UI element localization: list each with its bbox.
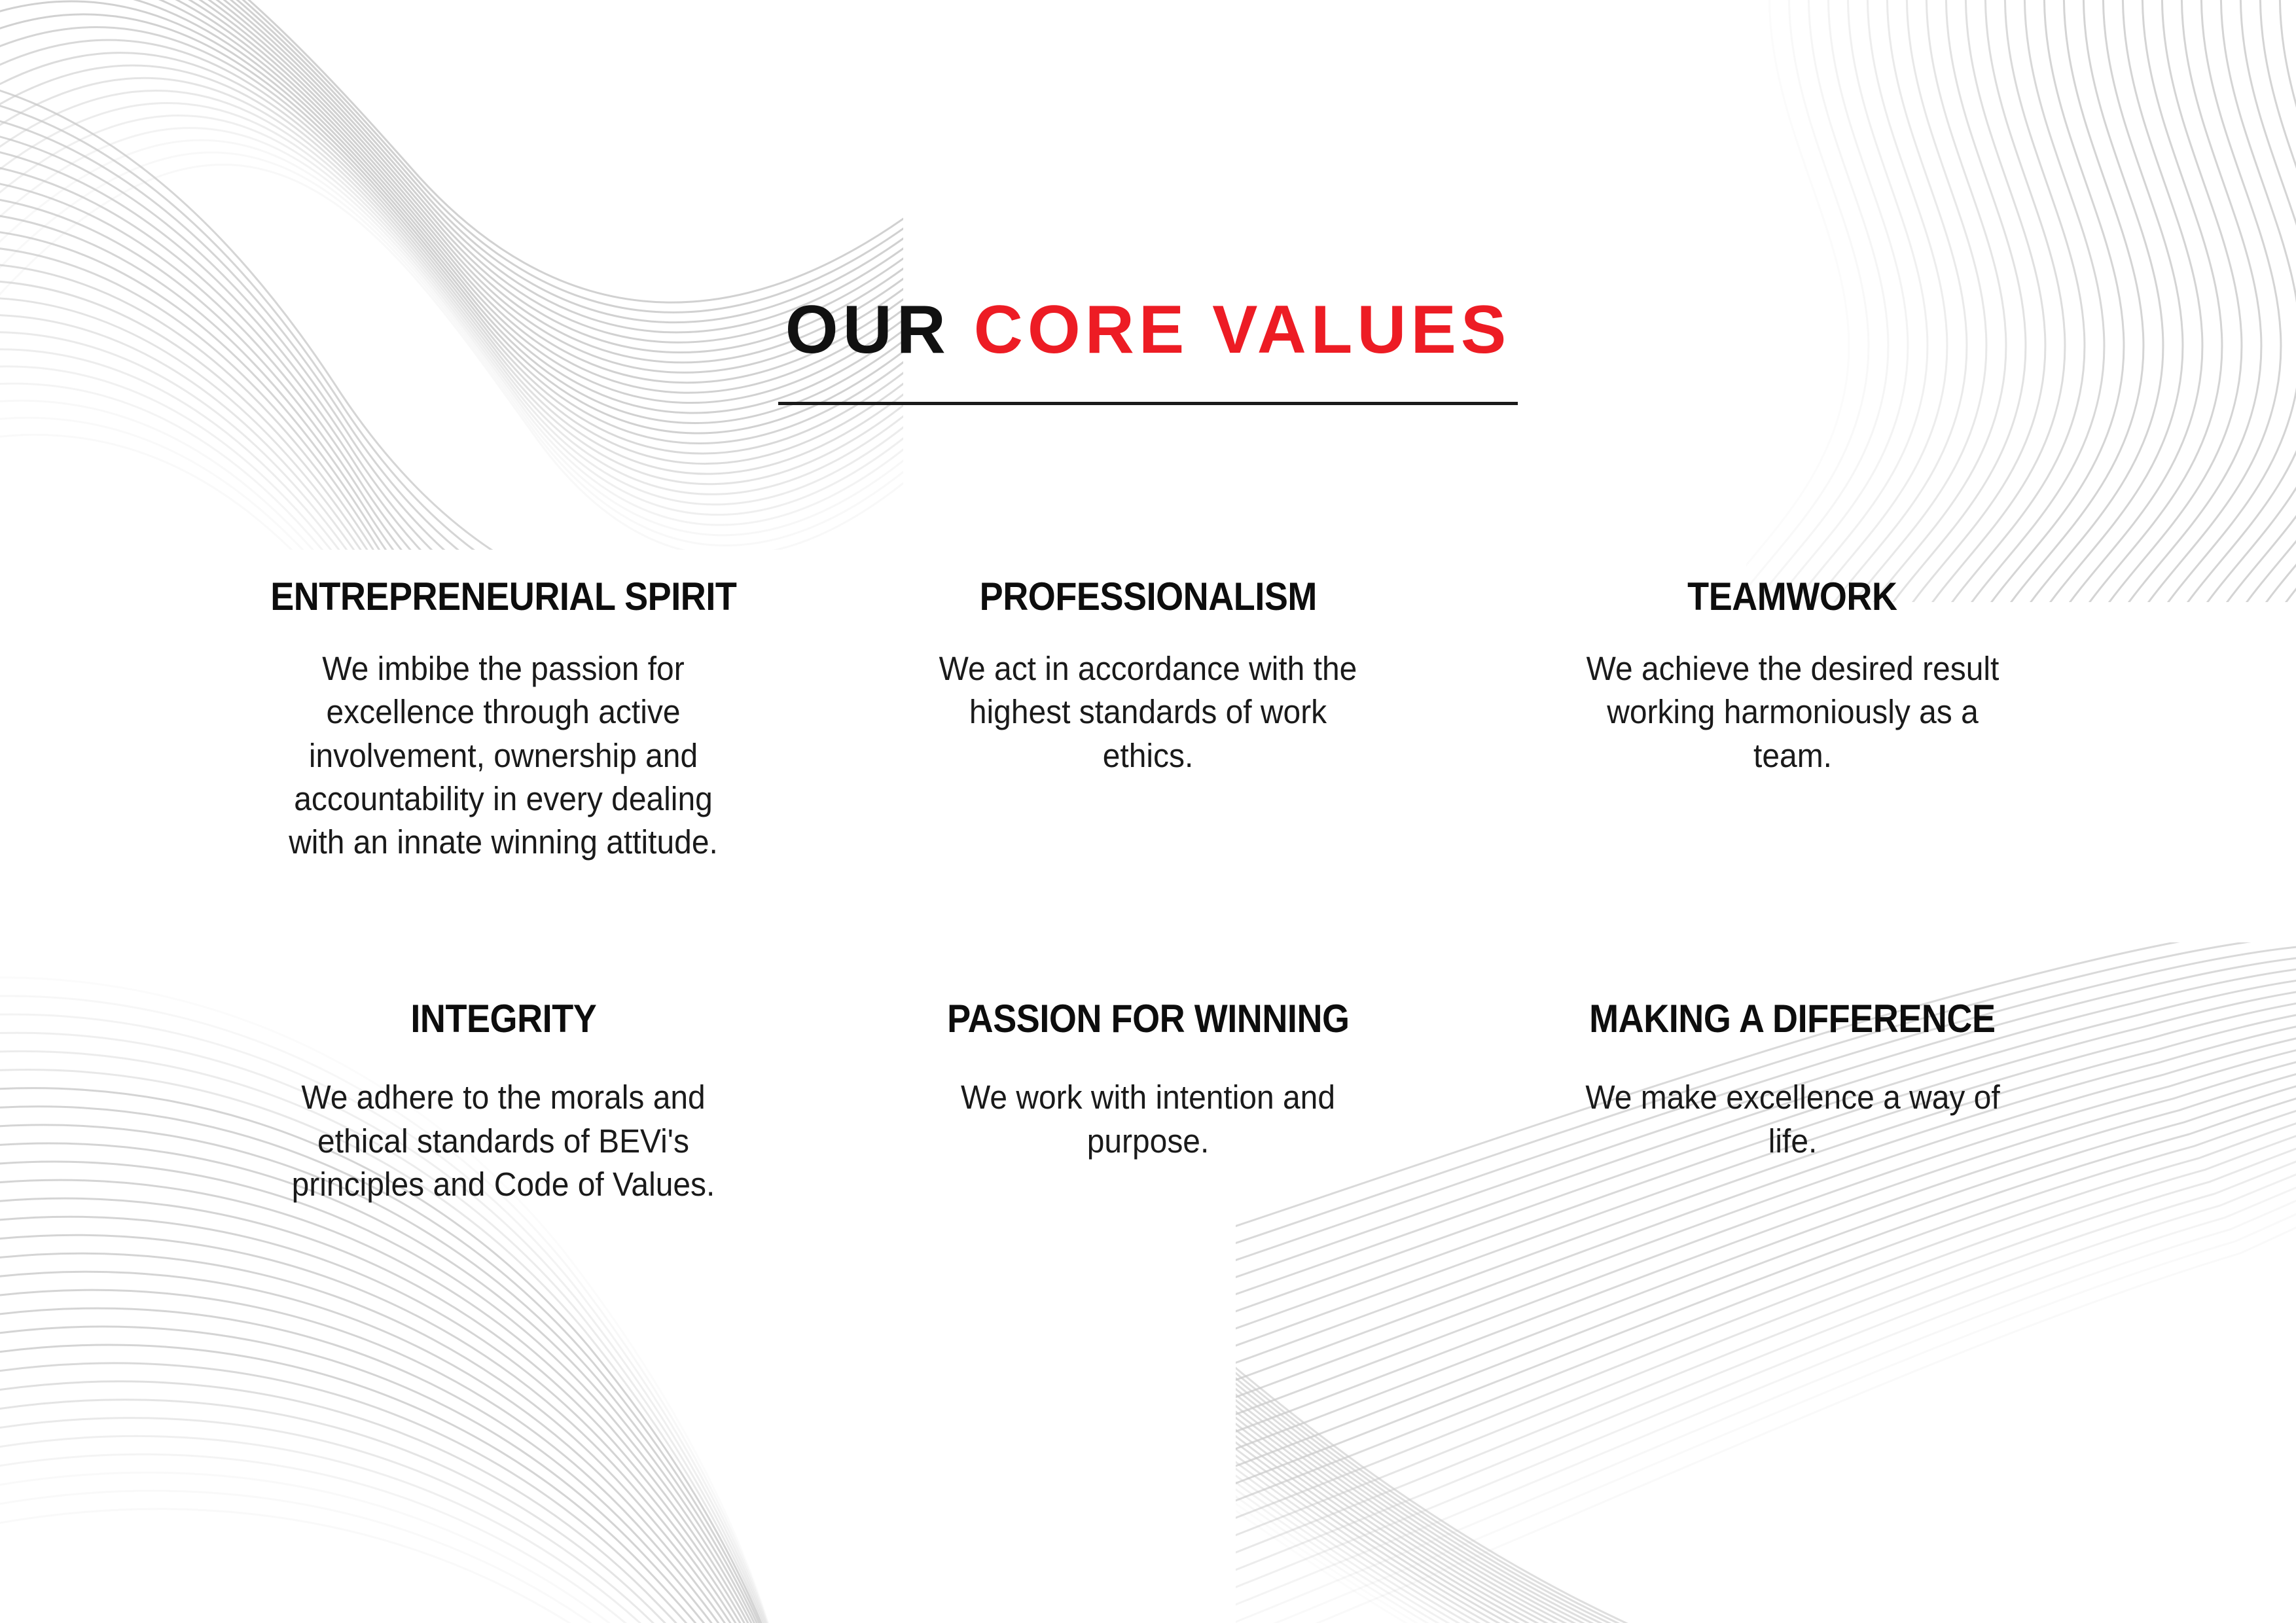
value-heading: PASSION FOR WINNING	[872, 998, 1425, 1039]
value-description: We achieve the desired result working ha…	[1571, 647, 2014, 777]
value-description: We act in accordance with the highest st…	[927, 647, 1370, 777]
title-block: OUR CORE VALUES	[0, 296, 2296, 405]
wave-lines-top-left-decoration	[0, 0, 903, 550]
value-card-entrepreneurial-spirit: ENTREPRENEURIAL SPIRIT We imbibe the pas…	[196, 576, 811, 864]
value-description: We work with intention and purpose.	[927, 1076, 1370, 1163]
page-title-accent: CORE VALUES	[974, 292, 1511, 368]
value-card-integrity: INTEGRITY We adhere to the morals and et…	[196, 998, 811, 1206]
value-card-making-a-difference: MAKING A DIFFERENCE We make excellence a…	[1485, 998, 2100, 1206]
value-description: We make excellence a way of life.	[1571, 1076, 2014, 1163]
core-values-grid: ENTREPRENEURIAL SPIRIT We imbibe the pas…	[196, 576, 2100, 1206]
value-card-professionalism: PROFESSIONALISM We act in accordance wit…	[841, 576, 1456, 864]
value-heading: PROFESSIONALISM	[872, 576, 1425, 617]
title-divider	[778, 402, 1518, 405]
page-title: OUR CORE VALUES	[0, 296, 2296, 364]
value-card-passion-for-winning: PASSION FOR WINNING We work with intenti…	[841, 998, 1456, 1206]
value-description: We imbibe the passion for excellence thr…	[276, 647, 732, 864]
value-heading: ENTREPRENEURIAL SPIRIT	[227, 576, 780, 617]
value-heading: MAKING A DIFFERENCE	[1516, 998, 2069, 1039]
value-card-teamwork: TEAMWORK We achieve the desired result w…	[1485, 576, 2100, 864]
value-heading: TEAMWORK	[1516, 576, 2069, 617]
page-title-prefix: OUR	[785, 292, 974, 368]
value-description: We adhere to the morals and ethical stan…	[276, 1076, 732, 1206]
value-heading: INTEGRITY	[227, 998, 780, 1039]
slide-canvas: OUR CORE VALUES ENTREPRENEURIAL SPIRIT W…	[0, 0, 2296, 1623]
